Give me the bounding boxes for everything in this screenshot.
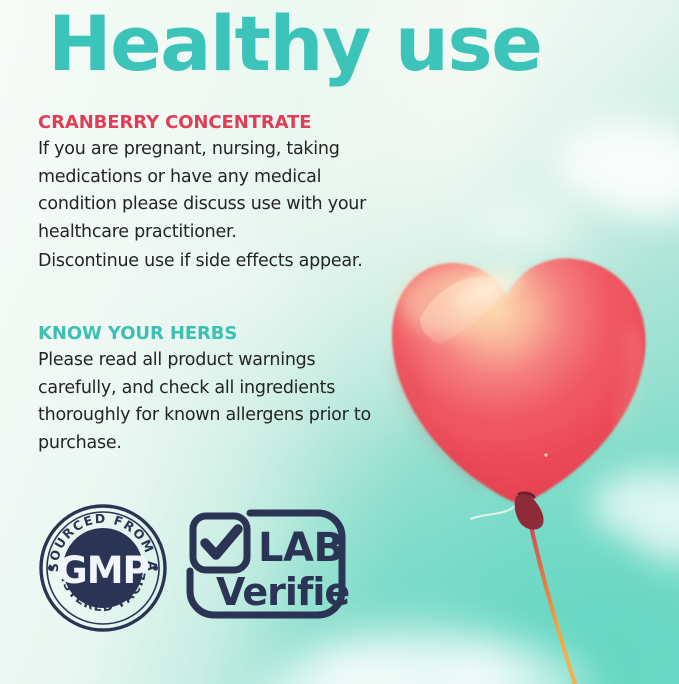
lab-verified-badge-icon: LAB Verified xyxy=(182,505,350,630)
checkmark-icon xyxy=(205,529,238,555)
section-heading-cranberry-concentrate: CRANBERRY CONCENTRATE xyxy=(38,112,380,134)
section-body-cranberry-concentrate: If you are pregnant, nursing, taking med… xyxy=(38,136,380,246)
page-title: Healthy use xyxy=(48,0,541,90)
poster-canvas: Healthy use CRANBERRY CONCENTRATE If you… xyxy=(0,0,679,684)
section-body-discontinue-use: Discontinue use if side effects appear. xyxy=(38,248,380,276)
certification-badges: SOURCED FROM A REGISTERED FACILITY GMP L… xyxy=(0,495,400,645)
section-discontinue-use: Discontinue use if side effects appear. xyxy=(38,248,380,276)
gmp-badge-icon: SOURCED FROM A REGISTERED FACILITY GMP xyxy=(38,503,168,638)
section-body-know-your-herbs: Please read all product warnings careful… xyxy=(38,347,380,457)
lab-badge-line2: Verified xyxy=(216,570,350,614)
lab-badge-line1: LAB xyxy=(258,525,343,571)
gmp-center-text: GMP xyxy=(57,549,148,592)
cloud-icon xyxy=(470,198,580,252)
section-heading-know-your-herbs: KNOW YOUR HERBS xyxy=(38,323,380,345)
section-cranberry-concentrate: CRANBERRY CONCENTRATE If you are pregnan… xyxy=(38,112,380,246)
section-know-your-herbs: KNOW YOUR HERBS Please read all product … xyxy=(38,323,380,457)
